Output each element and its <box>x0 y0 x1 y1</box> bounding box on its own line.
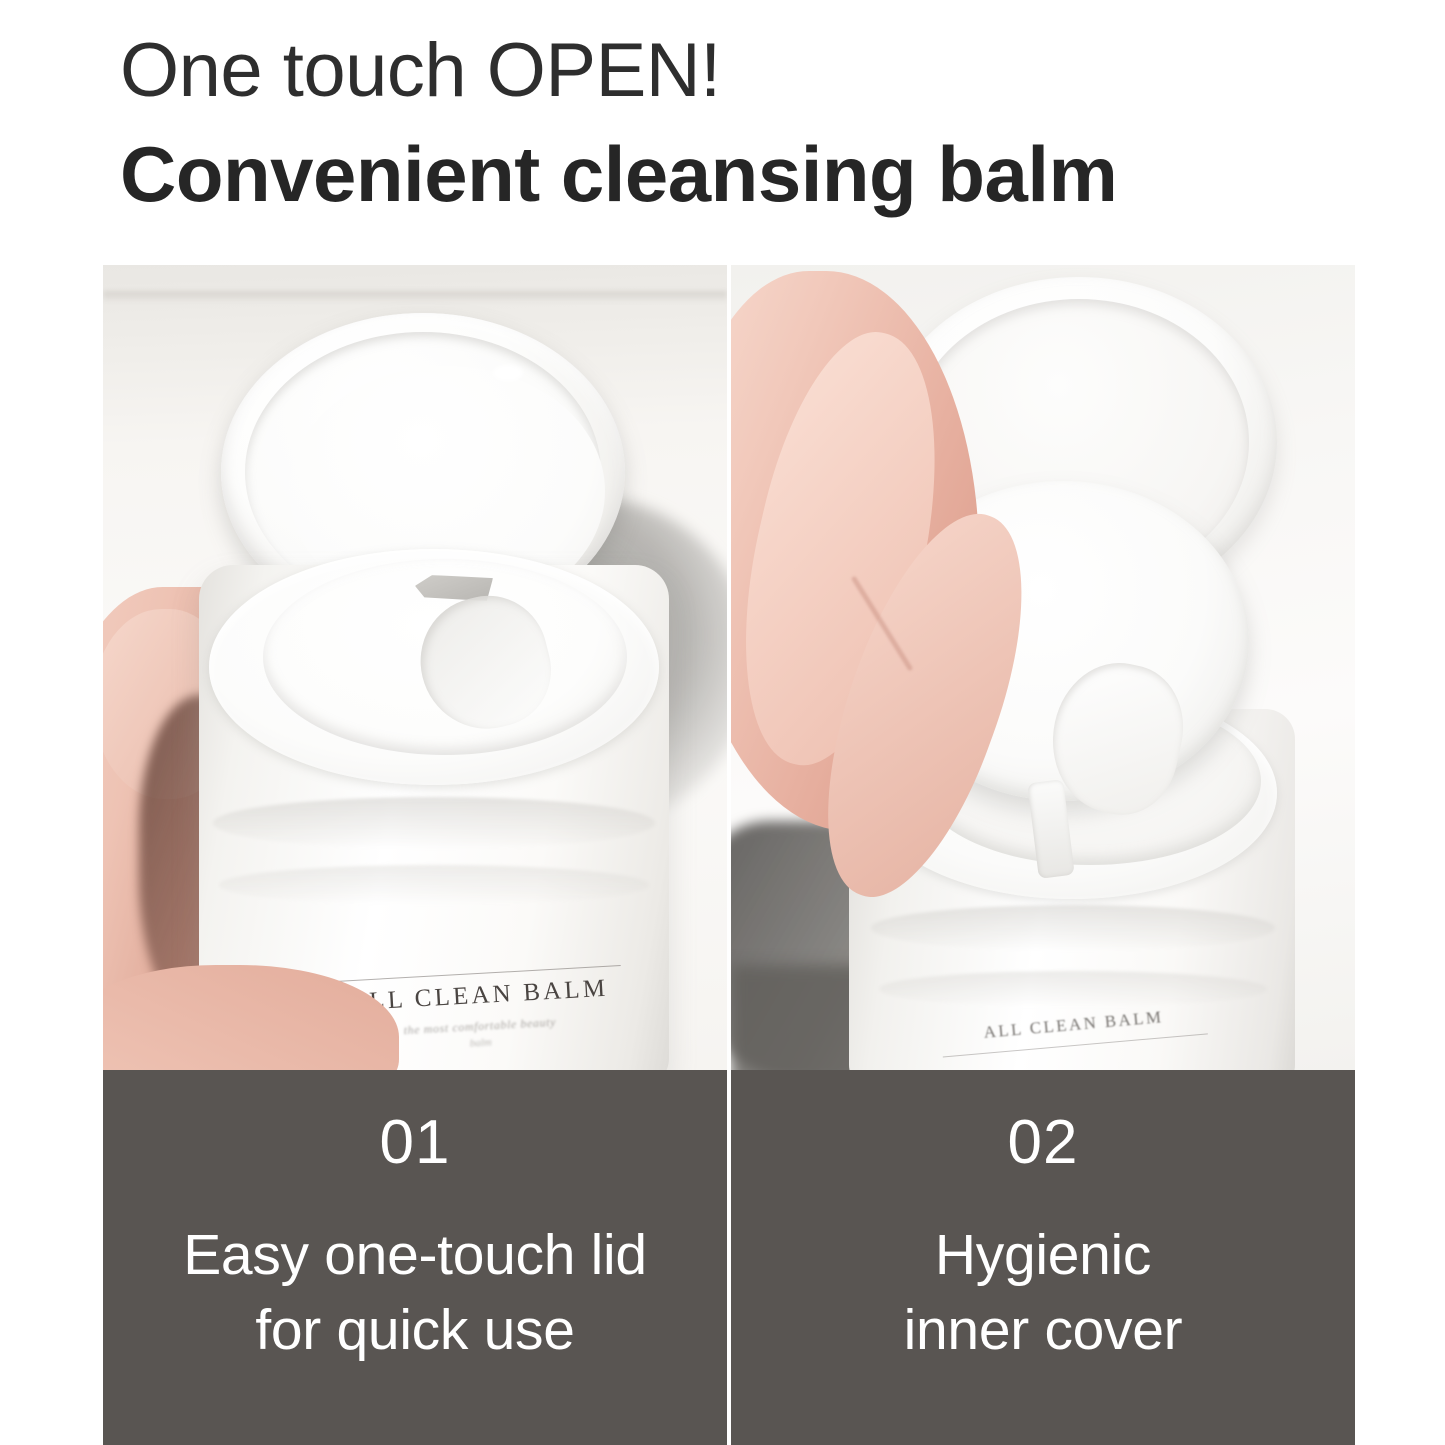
jar-seam-lower <box>219 865 649 905</box>
jar-seam-upper <box>871 905 1275 951</box>
feature-number-01: 01 <box>380 1112 451 1174</box>
lid-highlight <box>493 365 523 381</box>
page-headline: One touch OPEN! Convenient cleansing bal… <box>120 30 1380 216</box>
feature-description-02: Hygienic inner cover <box>904 1218 1183 1368</box>
headline-line-2: Convenient cleansing balm <box>120 132 1380 216</box>
caption-block-01: 01 Easy one-touch lid for quick use <box>103 1070 727 1445</box>
headline-line-1: One touch OPEN! <box>120 30 1380 112</box>
jar-seam-lower <box>879 971 1267 1007</box>
feature-panels: ALL CLEAN BALM the most comfortable beau… <box>103 265 1355 1445</box>
feature-panel-02: ALL CLEAN BALM 02 Hygienic inner cover <box>731 265 1355 1445</box>
product-photo-inner-cover: ALL CLEAN BALM <box>731 265 1355 1070</box>
tabletop-seam <box>103 291 727 302</box>
jar-seam-upper <box>213 797 655 849</box>
inner-cover-swirl <box>407 583 563 742</box>
jar-brand-text: ALL CLEAN BALM <box>940 1003 1207 1046</box>
feature-number-02: 02 <box>1008 1112 1079 1174</box>
inner-cover-disc <box>263 559 627 755</box>
caption-block-02: 02 Hygienic inner cover <box>731 1070 1355 1445</box>
product-photo-one-touch-lid: ALL CLEAN BALM the most comfortable beau… <box>103 265 727 1070</box>
jar-opening <box>209 549 659 785</box>
jar-product-label: ALL CLEAN BALM <box>940 1003 1208 1057</box>
feature-description-01: Easy one-touch lid for quick use <box>183 1218 647 1368</box>
feature-panel-01: ALL CLEAN BALM the most comfortable beau… <box>103 265 727 1445</box>
